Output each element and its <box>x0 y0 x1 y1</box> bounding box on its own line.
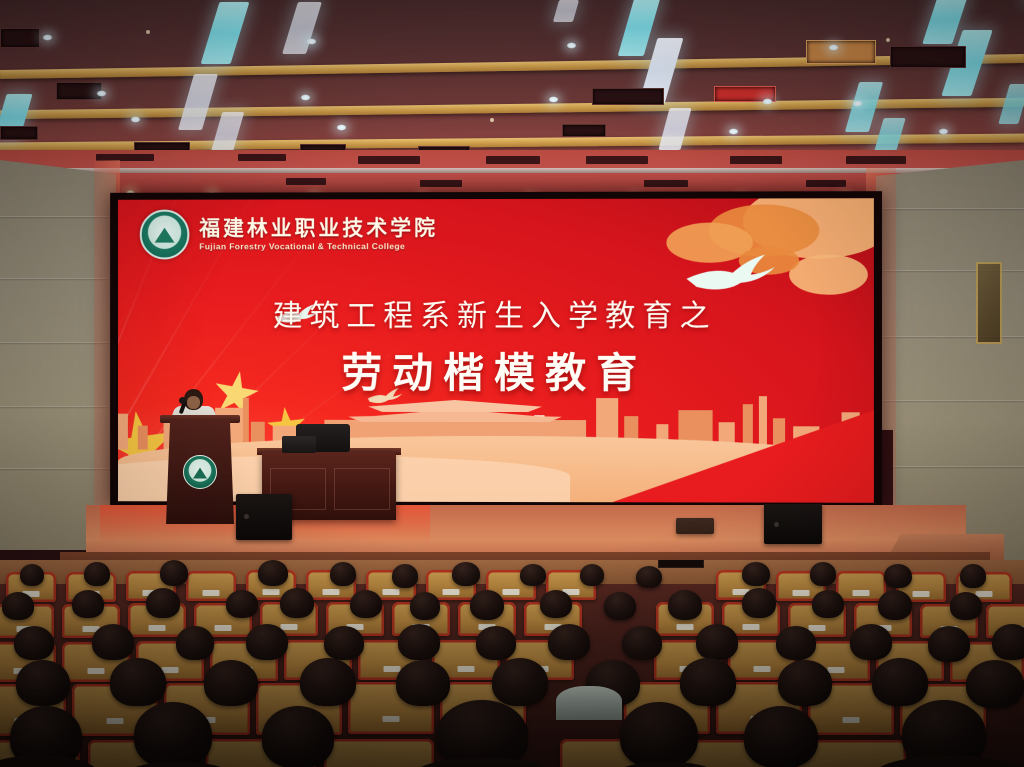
ceiling-downlight <box>852 100 863 107</box>
audience-head <box>696 624 738 660</box>
college-pine-emblem-icon <box>140 210 190 260</box>
audience-head <box>580 564 604 586</box>
audience-head <box>14 626 54 660</box>
college-name-cn: 福建林业职业技术学院 <box>199 217 438 239</box>
audience-head <box>622 626 662 660</box>
audience-head <box>84 562 110 586</box>
audience-head <box>72 590 104 618</box>
audience-head <box>20 564 44 586</box>
audience-head <box>134 702 212 767</box>
audience-head <box>470 590 504 620</box>
audience-head <box>744 706 818 767</box>
seated-student-audience <box>0 560 1024 767</box>
auditorium-seat[interactable] <box>324 739 434 767</box>
seat-number-tag <box>913 591 930 597</box>
ceiling-downlight <box>762 98 773 105</box>
ceiling-panel-light <box>553 0 579 22</box>
seat-number-tag <box>203 590 220 596</box>
title-line-1: 建筑工程系新生入学教育之 <box>118 291 874 335</box>
audience-head <box>928 626 970 662</box>
ceiling-downlight <box>130 116 141 123</box>
audience-head <box>392 564 418 588</box>
led-screen[interactable]: 福建林业职业技术学院 Fujian Forestry Vocational & … <box>118 198 874 503</box>
audience-head <box>2 592 34 620</box>
audience-head <box>300 658 356 706</box>
audience-head <box>410 592 440 620</box>
floor-speaker-monitor <box>764 504 822 544</box>
audience-head <box>246 624 288 660</box>
soffit-vent <box>486 156 540 164</box>
audience-head <box>110 658 166 706</box>
floor-speaker-monitor <box>236 494 292 540</box>
audience-head <box>742 562 770 586</box>
seat-number-tag <box>843 717 860 723</box>
soffit-vent <box>420 180 462 187</box>
right-wall-panel <box>876 160 1024 560</box>
audience-head <box>204 660 258 706</box>
stage-edge-box <box>676 518 714 534</box>
auditorium-seat[interactable] <box>836 571 886 601</box>
audience-head <box>620 702 698 767</box>
ceiling-downlight <box>300 94 311 101</box>
soffit-vent <box>358 156 420 164</box>
audience-head <box>396 660 450 706</box>
rear-dark-panel <box>658 560 704 568</box>
audience-head <box>436 700 528 767</box>
seat-number-tag <box>88 668 105 674</box>
ceiling-downlight <box>336 124 347 131</box>
seat-number-tag <box>809 625 826 631</box>
audience-head <box>680 658 736 706</box>
seat-number-tag <box>793 590 810 596</box>
audience-head <box>350 590 382 618</box>
ceiling-panel-light <box>201 2 250 64</box>
ceiling-marker <box>490 118 494 122</box>
seat-number-tag <box>162 667 179 673</box>
audience-head <box>226 590 258 618</box>
tiananmen-gate-upper-roof <box>368 400 542 412</box>
ceiling-panel-light <box>178 74 218 130</box>
audience-head <box>810 562 836 586</box>
ceiling-marker <box>886 38 890 42</box>
audience-head <box>324 626 364 660</box>
audience-head <box>742 588 776 618</box>
college-branding: 福建林业职业技术学院 Fujian Forestry Vocational & … <box>140 209 438 259</box>
ceiling-vent <box>562 124 606 137</box>
audience-head <box>776 626 816 660</box>
college-name-en: Fujian Forestry Vocational & Technical C… <box>199 241 438 251</box>
seat-number-tag <box>458 666 475 672</box>
soffit-vent <box>286 178 326 185</box>
ceiling-vent <box>806 40 876 64</box>
ceiling-downlight <box>42 34 53 41</box>
audience-head <box>812 590 844 618</box>
seat-number-tag <box>215 625 232 631</box>
audience-head <box>668 590 702 620</box>
ceiling-vent <box>890 46 966 68</box>
audience-head <box>878 590 912 620</box>
seat-number-tag <box>281 624 298 630</box>
seat-number-tag <box>443 589 460 595</box>
audience-head <box>452 562 480 586</box>
seat-number-tag <box>503 589 520 595</box>
soffit-vent <box>806 180 846 187</box>
audience-head <box>160 560 188 586</box>
seat-number-tag <box>323 589 340 595</box>
ceiling-downlight <box>828 44 839 51</box>
seat-number-tag <box>853 590 870 596</box>
audience-head <box>258 560 288 586</box>
ceiling-panel-light <box>282 2 322 54</box>
seat-number-tag <box>743 624 760 630</box>
seat-number-tag <box>149 625 166 631</box>
stage-monitor-secondary <box>282 436 316 453</box>
ceiling-downlight <box>306 38 317 45</box>
audience-shoulder <box>0 756 102 767</box>
audience-head <box>872 658 928 706</box>
audience-head <box>960 564 986 588</box>
soffit-vent <box>730 156 782 164</box>
audience-head <box>262 706 334 767</box>
audience-head <box>146 588 180 618</box>
audience-head <box>548 624 590 660</box>
ceiling-downlight <box>548 96 559 103</box>
seat-number-tag <box>107 718 124 724</box>
audience-head <box>950 592 982 620</box>
audience-head <box>850 624 892 660</box>
audience-head <box>966 660 1024 708</box>
seat-number-tag <box>383 716 400 722</box>
auditorium-scene: 福建林业职业技术学院 Fujian Forestry Vocational & … <box>0 0 1024 767</box>
dove-icon <box>682 249 779 295</box>
soffit-vent <box>586 156 648 164</box>
audience-head <box>884 564 912 588</box>
soffit-vent <box>644 180 688 187</box>
audience-head <box>492 658 548 706</box>
soffit-vent <box>238 154 286 161</box>
seat-number-tag <box>383 589 400 595</box>
seat-number-tag <box>263 589 280 595</box>
audience-head <box>16 660 70 706</box>
ceiling-vent <box>0 28 40 48</box>
audience-head <box>520 564 546 586</box>
college-pine-emblem-icon <box>183 455 217 489</box>
ceiling-downlight <box>566 42 577 49</box>
ceiling-marker <box>146 30 150 34</box>
presenter-face <box>187 396 200 409</box>
audience-head <box>92 624 134 660</box>
audience-head <box>398 624 440 660</box>
ceiling-downlight <box>728 128 739 135</box>
seat-number-tag <box>677 624 694 630</box>
seat-number-tag <box>828 667 845 673</box>
soffit-vent <box>846 156 906 164</box>
audience-head <box>176 626 214 660</box>
wall-picture-frame <box>976 262 1002 344</box>
ceiling-downlight <box>938 128 949 135</box>
audience-head <box>992 624 1024 660</box>
audience-head <box>540 590 572 618</box>
seat-number-tag <box>754 666 771 672</box>
audience-head <box>280 588 314 618</box>
microphone-head <box>179 397 186 404</box>
audience-head <box>636 566 662 588</box>
papercut-cloud-icon <box>789 255 868 295</box>
audience-head <box>778 660 832 706</box>
ceiling-vent <box>0 126 38 140</box>
seat-number-tag <box>384 666 401 672</box>
ceiling-downlight <box>96 90 107 97</box>
ceiling-vent <box>592 88 664 105</box>
audience-head <box>604 592 636 620</box>
ceiling-vent <box>56 82 102 100</box>
audience-shoulder <box>556 686 622 720</box>
audience-head <box>476 626 516 660</box>
audience-head <box>330 562 356 586</box>
